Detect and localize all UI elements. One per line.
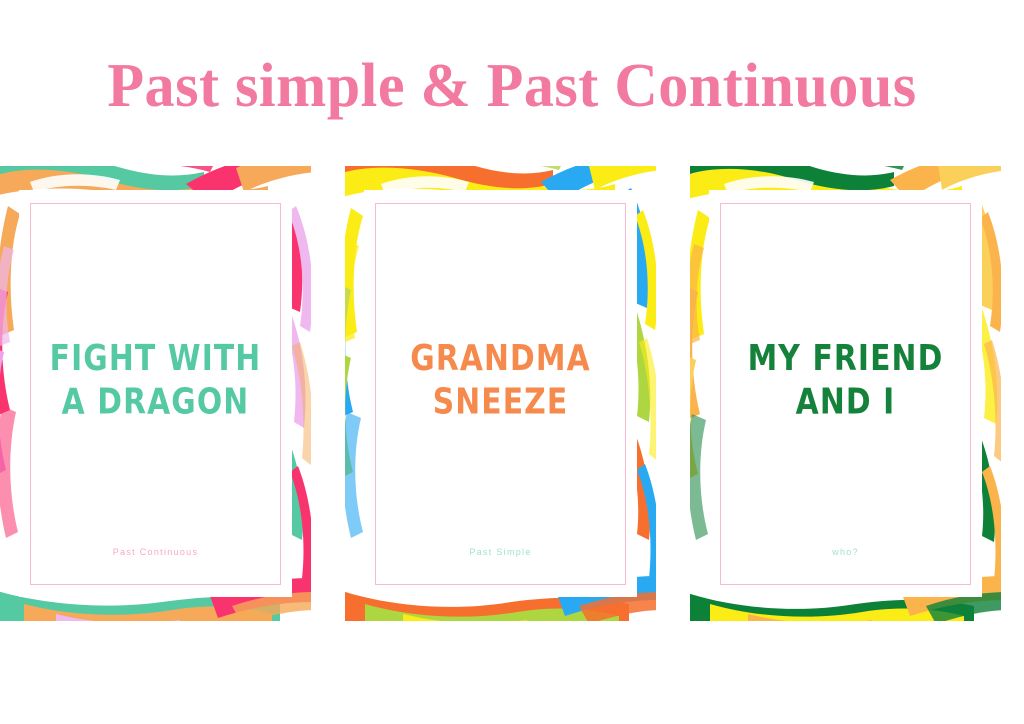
card-headline: GRANDMA SNEEZE xyxy=(392,336,609,423)
card-tag-label: Past Continuous xyxy=(39,546,272,558)
flashcard-grandma-sneeze[interactable]: GRANDMA SNEEZE Past Simple xyxy=(345,166,656,621)
card-headline: FIGHT WITH A DRAGON xyxy=(47,336,264,423)
flashcard-my-friend-and-i[interactable]: MY FRIEND AND I who? xyxy=(690,166,1001,621)
card-row: FIGHT WITH A DRAGON Past Continuous xyxy=(0,166,1024,626)
card-inner-frame: MY FRIEND AND I who? xyxy=(720,203,971,585)
card-headline: MY FRIEND AND I xyxy=(737,336,954,423)
card-tag-label: Past Simple xyxy=(384,546,617,558)
flashcard-fight-with-a-dragon[interactable]: FIGHT WITH A DRAGON Past Continuous xyxy=(0,166,311,621)
card-tag-label: who? xyxy=(729,546,962,558)
card-inner-frame: FIGHT WITH A DRAGON Past Continuous xyxy=(30,203,281,585)
poster-page: Past simple & Past Continuous xyxy=(0,0,1024,724)
page-title: Past simple & Past Continuous xyxy=(15,50,1008,122)
card-inner-frame: GRANDMA SNEEZE Past Simple xyxy=(375,203,626,585)
